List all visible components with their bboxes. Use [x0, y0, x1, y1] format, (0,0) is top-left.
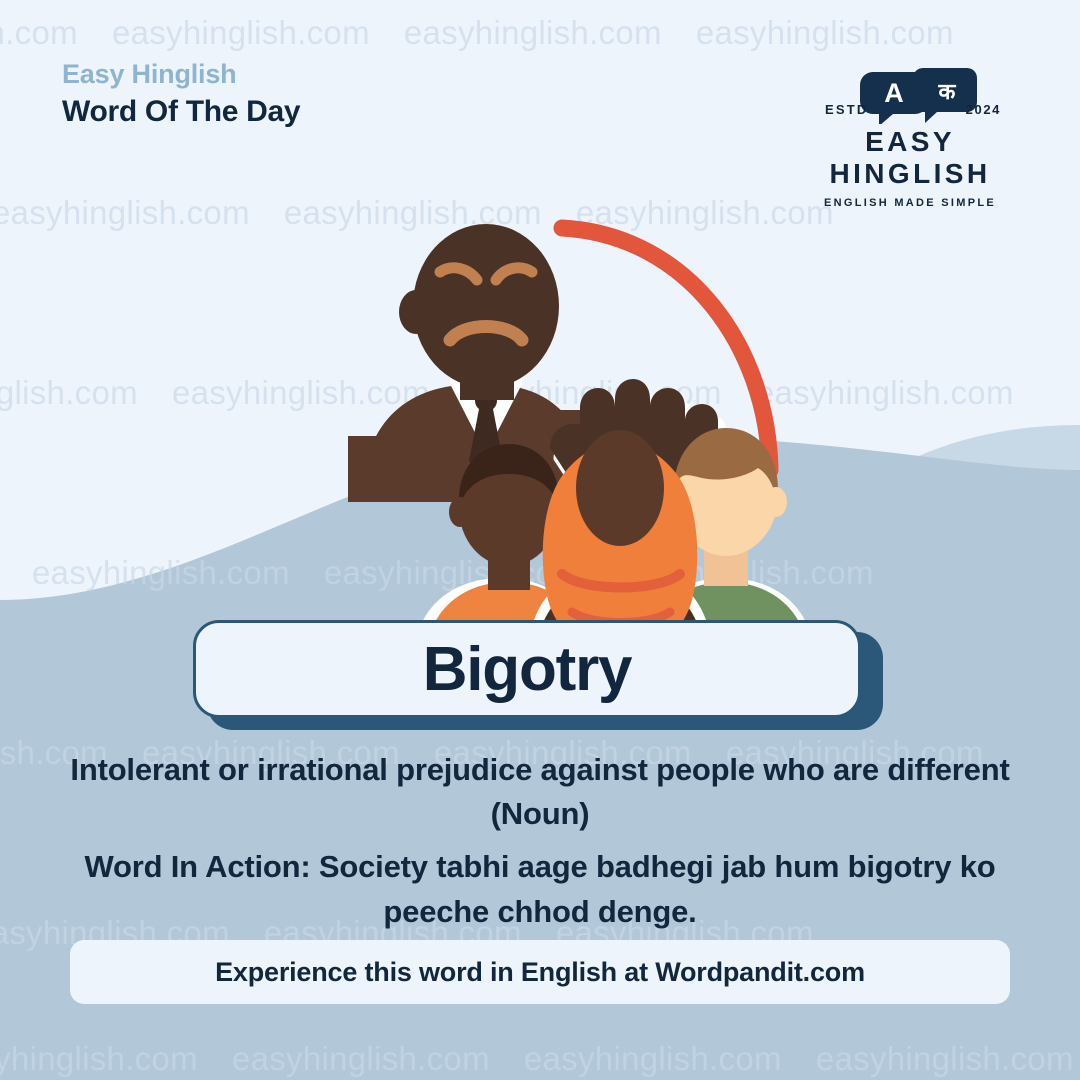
header: Easy Hinglish Word Of The Day	[62, 58, 300, 131]
logo-name: EASY HINGLISH	[795, 126, 1025, 190]
logo-badges: क A ESTD 2024	[795, 62, 1025, 124]
bigotry-illustration	[300, 200, 860, 660]
logo: क A ESTD 2024 EASY HINGLISH ENGLISH MADE…	[795, 62, 1025, 209]
logo-year-label: 2024	[966, 102, 1001, 117]
logo-tagline: ENGLISH MADE SIMPLE	[795, 197, 1025, 209]
header-brand: Easy Hinglish	[62, 58, 300, 91]
page-title: Word Of The Day	[62, 94, 300, 131]
word-of-the-day: Bigotry	[423, 634, 632, 705]
svg-text:A: A	[884, 78, 904, 108]
word-definition: Intolerant or irrational prejudice again…	[40, 748, 1040, 836]
word-card-body: Bigotry	[193, 620, 861, 718]
cta-text: Experience this word in English at Wordp…	[215, 957, 865, 988]
word-in-action: Word In Action: Society tabhi aage badhe…	[60, 845, 1020, 935]
logo-estd-label: ESTD	[825, 102, 868, 117]
cta-banner[interactable]: Experience this word in English at Wordp…	[70, 940, 1010, 1004]
svg-text:क: क	[938, 80, 957, 105]
word-of-the-day-card: easyhinglish.comeasyhinglish.comeasyhing…	[0, 0, 1080, 1080]
word-card: Bigotry	[193, 620, 883, 730]
